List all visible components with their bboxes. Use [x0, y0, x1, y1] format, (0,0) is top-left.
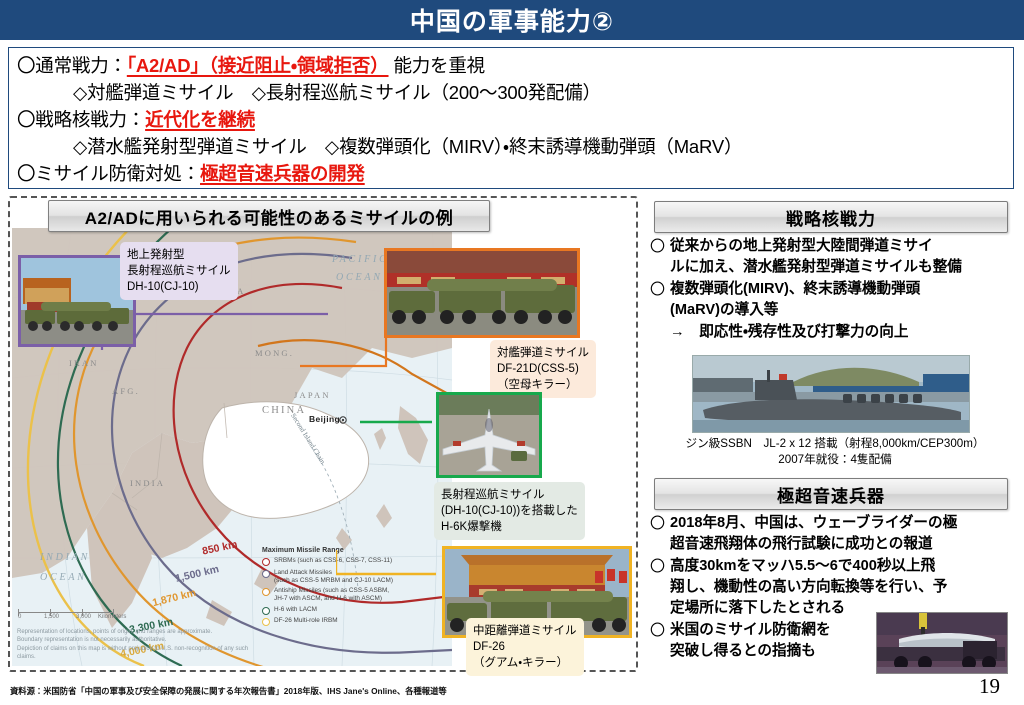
photo-waverider-vehicle [876, 612, 1008, 674]
section-header-hypersonic-weapons-label: 極超音速兵器 [777, 482, 885, 507]
summary-seg: 能力を重視 [389, 55, 485, 76]
section-header-hypersonic-weapons: 極超音速兵器 [654, 478, 1008, 510]
callout-df21d-label: 対艦弾道ミサイル DF-21D(CSS-5) （空母キラー） [490, 340, 596, 398]
bullets-strategic-nuclear: 〇 従来からの地上発射型大陸間弾道ミサイ ルに加え、潜水艦発射型弾道ミサイルも整… [650, 236, 1020, 343]
callout-h6k-line: (DH-10(CJ-10))を搭載した [441, 503, 578, 519]
leader-line-h6k [360, 400, 440, 430]
map-label-japan: JAPAN [294, 390, 331, 400]
scale-unit: Kilometers [98, 614, 126, 620]
summary-line-5: 〇ミサイル防衛対処：極超音速兵器の開発 [17, 160, 1005, 187]
scale-tick-3000: 3,000 [76, 614, 91, 620]
callout-dh10-line: 長射程巡航ミサイル [127, 263, 231, 279]
bullet-line: 突破し得るとの指摘も [670, 643, 816, 659]
callout-df21d-line: 対艦弾道ミサイル [497, 345, 589, 361]
leader-line-df26 [336, 548, 446, 588]
legend-color-dot-land-attack [262, 570, 270, 578]
page-title: 中国の軍事能力② [410, 2, 614, 38]
scale-tick-0: 0 [18, 614, 21, 620]
slide-title-bar: 中国の軍事能力② [0, 0, 1024, 40]
section-header-strategic-nuclear-label: 戦略核戦力 [786, 205, 876, 230]
legend-item: H-6 with LACM [262, 606, 452, 615]
callout-dh10-line: 地上発射型 [127, 247, 231, 263]
callout-dh10-line: DH-10(CJ-10) [127, 279, 231, 295]
scale-tick-1500: 1,500 [44, 614, 59, 620]
bullet-line: 超音速飛翔体の飛行試験に成功との報道 [670, 536, 933, 552]
bullet-line: 米国のミサイル防衛網を [670, 622, 831, 638]
bullet-line: 2018年8月、中国は、ウェーブライダーの極 [670, 515, 957, 531]
summary-highlight: 極超音速兵器の開発 [200, 163, 365, 184]
caption-jin-class-ssbn: ジン級SSBN JL-2 x 12 搭載（射程8,000km/CEP300m） … [650, 436, 1020, 467]
bullet-line: (MaRV)の導入等 [670, 302, 778, 318]
bullet-item: 〇 高度30kmをマッハ5.5〜6で400秒以上飛 翔し、機動性の高い方向転換等… [650, 556, 1020, 619]
bullet-item: 〇 複数弾頭化(MIRV)、終末誘導機動弾頭 (MaRV)の導入等 [650, 279, 1020, 321]
summary-text-box: 〇通常戦力：「A2/AD」（接近阻止・領域拒否） 能力を重視 ◇対艦弾道ミサイル… [8, 47, 1014, 189]
bullet-text: 複数弾頭化(MIRV)、終末誘導機動弾頭 (MaRV)の導入等 [670, 279, 1020, 321]
map-label-beijing: Beijing [309, 414, 340, 424]
caption-line: 2007年就役：4隻配備 [650, 452, 1020, 468]
photo-h6k-bomber [436, 392, 542, 478]
legend-item-label: H-6 with LACM [274, 606, 317, 614]
map-label-indian: INDIAN [40, 552, 90, 563]
a2ad-panel-header-label: A2/ADに用いられる可能性のあるミサイルの例 [85, 204, 454, 229]
callout-df26-line: 中距離弾道ミサイル [473, 623, 577, 639]
legend-color-dot-df26 [262, 618, 270, 626]
summary-line-2: ◇対艦弾道ミサイル ◇長射程巡航ミサイル（200〜300発配備） [17, 79, 1005, 106]
map-label-pacific: PACIFIC [332, 254, 389, 265]
bullet-line: ルに加え、潜水艦発射型弾道ミサイルも整備 [670, 259, 962, 275]
map-label-indian-ocean: OCEAN [40, 572, 87, 583]
bullet-line: 定場所に落下したとされる [670, 600, 845, 616]
legend-item-label: DF-26 Multi-role IRBM [274, 617, 338, 625]
map-label-china: CHINA [262, 405, 306, 416]
bullet-line: 高度30kmをマッハ5.5〜6で400秒以上飛 [670, 558, 935, 574]
bullet-text: 2018年8月、中国は、ウェーブライダーの極 超音速飛翔体の飛行試験に成功との報… [670, 513, 1020, 555]
summary-line-4: ◇潜水艦発射型弾道ミサイル ◇複数弾頭化（MIRV）・終末誘導機動弾頭（MaRV… [17, 133, 1005, 160]
summary-line-1: 〇通常戦力：「A2/AD」（接近阻止・領域拒否） 能力を重視 [17, 52, 1005, 79]
bullet-marker: 〇 [650, 513, 670, 534]
map-disclaimer-line: Boundary representation is not necessari… [17, 636, 267, 644]
section-header-strategic-nuclear: 戦略核戦力 [654, 201, 1008, 233]
map-disclaimer-line: Depiction of claims on this map is witho… [17, 645, 267, 662]
summary-line-3: 〇戦略核戦力：近代化を継続 [17, 106, 1005, 133]
map-label-india: INDIA [130, 478, 165, 488]
page-number: 19 [979, 674, 1000, 699]
map-label-iran: IRAN [69, 358, 99, 368]
map-disclaimer: Representation of locations, points of o… [17, 628, 267, 662]
map-disclaimer-line: Representation of locations, points of o… [17, 628, 267, 636]
bullet-item: 〇 従来からの地上発射型大陸間弾道ミサイ ルに加え、潜水艦発射型弾道ミサイルも整… [650, 236, 1020, 278]
legend-item: Antiship Missiles (such as CSS-5 ASBM, J… [262, 587, 452, 603]
summary-highlight: 近代化を継続 [145, 109, 255, 130]
bullet-text: 従来からの地上発射型大陸間弾道ミサイ ルに加え、潜水艦発射型弾道ミサイルも整備 [670, 236, 1020, 278]
source-note: 資料源：米国防省「中国の軍事及び安全保障の発展に関する年次報告書」2018年版、… [10, 685, 447, 697]
callout-dh10-label: 地上発射型 長射程巡航ミサイル DH-10(CJ-10) [120, 242, 238, 300]
legend-color-dot-srbm [262, 558, 270, 566]
caption-line: ジン級SSBN JL-2 x 12 搭載（射程8,000km/CEP300m） [650, 436, 1020, 452]
bullet-marker: 〇 [650, 279, 670, 300]
bullet-line: 従来からの地上発射型大陸間弾道ミサイ [670, 238, 933, 254]
a2ad-panel-header: A2/ADに用いられる可能性のあるミサイルの例 [48, 200, 490, 232]
callout-df26-line: （グアム・キラー） [473, 655, 577, 671]
bullet-marker: 〇 [650, 556, 670, 577]
bullet-line: 複数弾頭化(MIRV)、終末誘導機動弾頭 [670, 281, 920, 297]
bullet-line: 翔し、機動性の高い方向転換等を行い、予 [670, 579, 947, 595]
callout-df21d-line: （空母キラー） [497, 377, 589, 393]
callout-df26-label: 中距離弾道ミサイル DF-26 （グアム・キラー） [466, 618, 584, 676]
bullet-marker: 〇 [650, 620, 670, 641]
legend-item: DF-26 Multi-role IRBM [262, 617, 452, 626]
map-label-afghanistan: AFG. [112, 386, 140, 396]
callout-h6k-label: 長射程巡航ミサイル (DH-10(CJ-10))を搭載した H-6K爆撃機 [434, 482, 585, 540]
summary-seg: 〇戦略核戦力： [17, 109, 145, 130]
callout-h6k-line: 長射程巡航ミサイル [441, 487, 578, 503]
bullet-item: 〇 2018年8月、中国は、ウェーブライダーの極 超音速飛翔体の飛行試験に成功と… [650, 513, 1020, 555]
scale-bar-line [18, 612, 114, 613]
legend-color-dot-h6-lacm [262, 607, 270, 615]
callout-df26-line: DF-26 [473, 639, 577, 655]
callout-h6k-line: H-6K爆撃機 [441, 519, 578, 535]
photo-dh10-launcher [18, 255, 136, 347]
bullet-marker: 〇 [650, 236, 670, 257]
map-scale-bar: 0 1,500 3,000 Kilometers [18, 612, 138, 614]
bullet-text: 高度30kmをマッハ5.5〜6で400秒以上飛 翔し、機動性の高い方向転換等を行… [670, 556, 1020, 619]
summary-seg: 〇通常戦力： [17, 55, 127, 76]
photo-jin-class-ssbn [692, 355, 970, 433]
legend-item-label: Antiship Missiles (such as CSS-5 ASBM, J… [274, 587, 389, 603]
bullet-arrow-line: → 即応性・残存性及び打撃力の向上 [650, 322, 1020, 343]
photo-df21d-launcher [384, 248, 580, 338]
map-label-pacific-ocean: OCEAN [336, 272, 383, 283]
summary-highlight: 「A2/AD」（接近阻止・領域拒否） [127, 55, 389, 76]
legend-color-dot-antiship [262, 588, 270, 596]
summary-seg: 〇ミサイル防衛対処： [17, 163, 200, 184]
callout-df21d-line: DF-21D(CSS-5) [497, 361, 589, 377]
